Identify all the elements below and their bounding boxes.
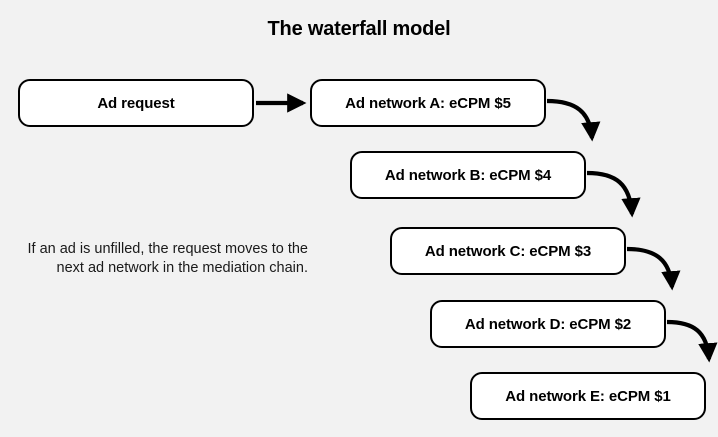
node-label: Ad network C: eCPM $3	[425, 243, 591, 260]
node-network-c[interactable]: Ad network C: eCPM $3	[390, 227, 626, 275]
explanatory-caption: If an ad is unfilled, the request moves …	[20, 240, 308, 278]
node-label: Ad request	[97, 95, 174, 112]
node-network-e[interactable]: Ad network E: eCPM $1	[470, 372, 706, 420]
arrow-d-to-e	[667, 322, 709, 359]
diagram-canvas: The waterfall model Ad request Ad networ…	[0, 0, 718, 437]
node-label: Ad network A: eCPM $5	[345, 95, 511, 112]
arrow-a-to-b	[547, 101, 592, 138]
arrow-c-to-d	[627, 249, 672, 287]
node-label: Ad network D: eCPM $2	[465, 316, 631, 333]
arrow-b-to-c	[587, 173, 632, 214]
node-label: Ad network E: eCPM $1	[505, 388, 670, 405]
node-network-b[interactable]: Ad network B: eCPM $4	[350, 151, 586, 199]
node-network-d[interactable]: Ad network D: eCPM $2	[430, 300, 666, 348]
node-network-a[interactable]: Ad network A: eCPM $5	[310, 79, 546, 127]
node-label: Ad network B: eCPM $4	[385, 167, 551, 184]
node-ad-request[interactable]: Ad request	[18, 79, 254, 127]
